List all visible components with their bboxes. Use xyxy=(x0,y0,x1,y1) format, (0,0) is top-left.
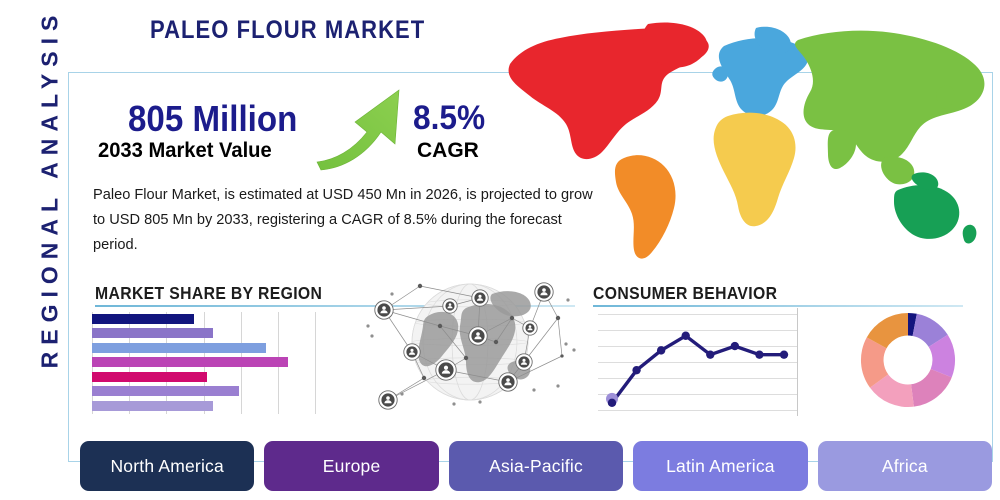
user-head-icon xyxy=(444,366,448,370)
network-node-dot xyxy=(556,316,560,320)
network-speckle xyxy=(478,400,481,403)
map-region-southeast-asia xyxy=(881,157,914,185)
network-node-user-icon xyxy=(445,301,454,310)
region-tab-europe[interactable]: Europe xyxy=(264,441,438,491)
network-speckle xyxy=(566,298,569,301)
network-node-user-icon xyxy=(438,362,453,377)
map-region-india xyxy=(828,130,856,169)
bar-1 xyxy=(92,314,194,324)
network-node-user-icon xyxy=(501,375,514,388)
network-node-user-icon xyxy=(525,323,534,332)
user-head-icon xyxy=(522,359,525,362)
segment-donut-chart xyxy=(859,311,957,409)
user-head-icon xyxy=(410,349,413,352)
user-head-icon xyxy=(478,295,481,298)
network-node-dot xyxy=(560,354,563,357)
user-head-icon xyxy=(449,303,452,306)
region-tab-north-america[interactable]: North America xyxy=(80,441,254,491)
network-node-dot xyxy=(422,376,426,380)
region-tab-latin-america[interactable]: Latin America xyxy=(633,441,807,491)
network-speckle xyxy=(370,334,373,337)
network-node-dot xyxy=(510,316,514,320)
map-region-europe xyxy=(719,38,808,116)
network-node-user-icon xyxy=(518,356,529,367)
kpi-market-value-label: 2033 Market Value xyxy=(98,139,272,163)
network-speckle xyxy=(366,324,369,327)
network-speckle xyxy=(564,342,567,345)
network-speckle xyxy=(532,388,535,391)
user-head-icon xyxy=(386,396,390,400)
growth-arrow-icon xyxy=(315,86,415,171)
line-marker-3 xyxy=(657,346,665,354)
section-heading-market-share: MARKET SHARE BY REGION xyxy=(95,283,322,304)
user-head-icon xyxy=(506,378,510,382)
line-marker-6 xyxy=(731,342,739,350)
network-node-dot xyxy=(418,284,422,288)
infographic-root: REGIONAL ANALYSIS PALEO FLOUR MARKET 805… xyxy=(0,0,1000,500)
section-rule-consumer-behavior xyxy=(593,305,963,307)
network-node-user-icon xyxy=(474,292,485,303)
global-network-globe-icon xyxy=(362,266,592,418)
region-tab-label: Latin America xyxy=(666,456,775,477)
section-heading-consumer-behavior: CONSUMER BEHAVIOR xyxy=(593,283,777,304)
line-marker-2 xyxy=(632,366,640,374)
world-map xyxy=(498,12,998,270)
kpi-cagr-label: CAGR xyxy=(417,139,479,163)
network-node-user-icon xyxy=(381,393,394,406)
line-marker-7 xyxy=(755,350,763,358)
market-share-bar-chart xyxy=(92,312,317,414)
network-speckle xyxy=(400,392,403,395)
line-marker-8 xyxy=(780,350,788,358)
network-speckle xyxy=(572,348,575,351)
line-marker-1 xyxy=(608,399,616,407)
map-region-new-zealand xyxy=(963,225,977,244)
region-tab-label: Africa xyxy=(882,456,928,477)
network-edge xyxy=(558,318,562,356)
page-title: PALEO FLOUR MARKET xyxy=(150,16,425,45)
region-tab-label: North America xyxy=(110,456,223,477)
network-node-user-icon xyxy=(537,285,550,298)
network-node-dot xyxy=(438,324,442,328)
bar-5 xyxy=(92,372,207,382)
side-label: REGIONAL ANALYSIS xyxy=(37,0,64,389)
kpi-cagr-amount: 8.5% xyxy=(413,99,485,138)
kpi-market-value-amount: 805 Million xyxy=(128,98,297,140)
consumer-behavior-line-chart xyxy=(598,308,798,416)
network-node-user-icon xyxy=(377,303,390,316)
user-head-icon xyxy=(476,332,480,336)
map-region-uk xyxy=(712,66,728,81)
map-region-africa xyxy=(714,113,796,227)
network-speckle xyxy=(452,402,455,405)
region-tabs: North AmericaEuropeAsia-PacificLatin Ame… xyxy=(80,441,992,491)
bar-3 xyxy=(92,343,266,353)
network-speckle xyxy=(556,384,559,387)
map-region-asia xyxy=(795,31,984,162)
line-marker-4 xyxy=(682,332,690,340)
map-region-south-america xyxy=(615,155,676,258)
region-tab-asia-pacific[interactable]: Asia-Pacific xyxy=(449,441,623,491)
bar-4 xyxy=(92,357,288,367)
bar-gridline xyxy=(315,312,316,414)
network-node-user-icon xyxy=(471,329,484,342)
line-marker-5 xyxy=(706,350,714,358)
bar-2 xyxy=(92,328,213,338)
bar-7 xyxy=(92,401,213,411)
region-tab-label: Europe xyxy=(323,456,381,477)
user-head-icon xyxy=(382,306,386,310)
network-node-user-icon xyxy=(406,346,417,357)
bar-6 xyxy=(92,386,239,396)
map-region-australia xyxy=(894,185,959,239)
network-speckle xyxy=(390,292,393,295)
user-head-icon xyxy=(542,288,546,292)
region-tab-africa[interactable]: Africa xyxy=(818,441,992,491)
network-node-dot xyxy=(494,340,498,344)
network-node-dot xyxy=(464,356,468,360)
user-head-icon xyxy=(529,325,532,328)
region-tab-label: Asia-Pacific xyxy=(489,456,583,477)
